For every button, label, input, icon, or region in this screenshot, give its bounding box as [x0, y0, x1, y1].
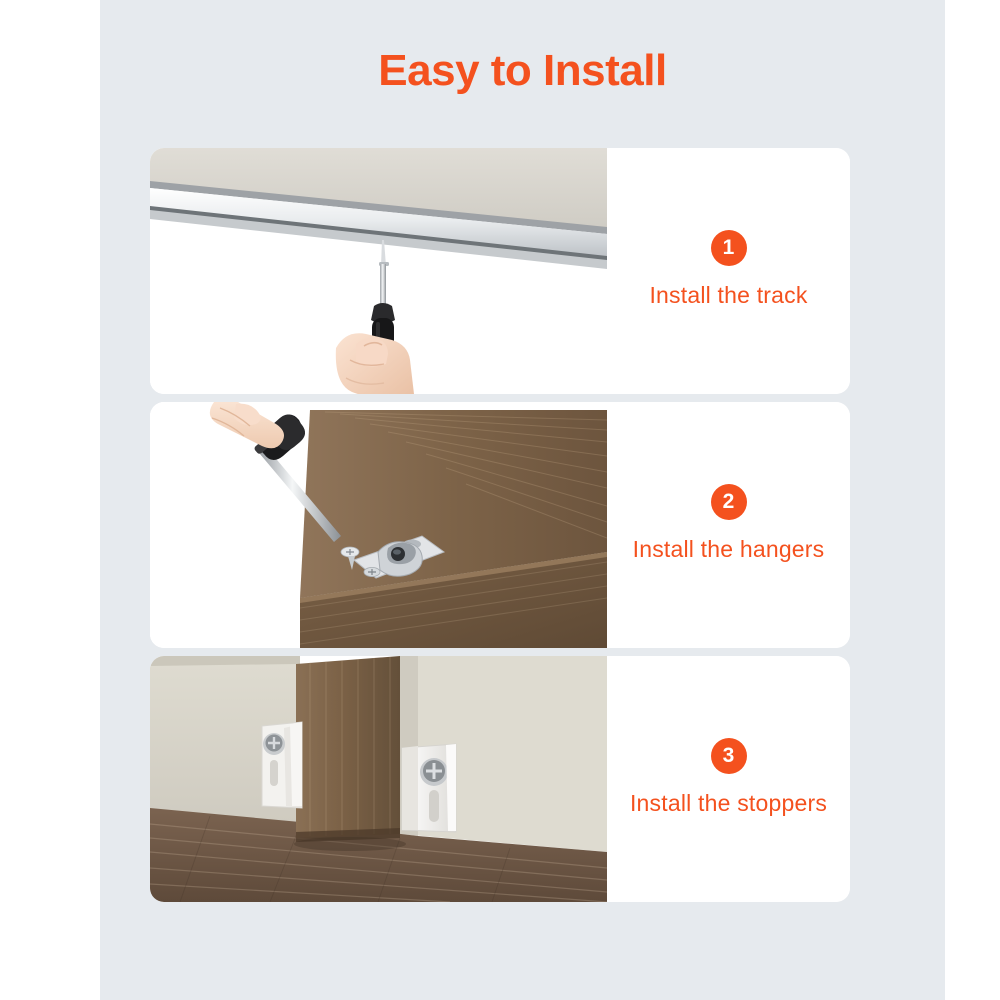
step-info-3: 3 Install the stoppers	[607, 656, 850, 902]
hanger-bracket-illustration	[150, 402, 607, 648]
step-card-1[interactable]: 1 Install the track	[150, 148, 850, 394]
ceiling-track-illustration	[150, 148, 607, 394]
step-image-2	[150, 402, 607, 648]
promo-graphic: Easy to Install	[0, 0, 1000, 1000]
step-number-badge-1: 1	[711, 230, 747, 266]
step-card-3[interactable]: 3 Install the stoppers	[150, 656, 850, 902]
step-label-1: Install the track	[649, 282, 807, 309]
step-label-2: Install the hangers	[633, 536, 825, 563]
step-label-3: Install the stoppers	[630, 790, 827, 817]
page-title: Easy to Install	[100, 46, 945, 96]
step-info-1: 1 Install the track	[607, 148, 850, 394]
steps-list: 1 Install the track	[150, 148, 850, 910]
floor-stoppers-illustration	[150, 656, 607, 902]
step-card-2[interactable]: 2 Install the hangers	[150, 402, 850, 648]
step-number-badge-2: 2	[711, 484, 747, 520]
step-image-1	[150, 148, 607, 394]
step-image-3	[150, 656, 607, 902]
step-number-badge-3: 3	[711, 738, 747, 774]
step-info-2: 2 Install the hangers	[607, 402, 850, 648]
